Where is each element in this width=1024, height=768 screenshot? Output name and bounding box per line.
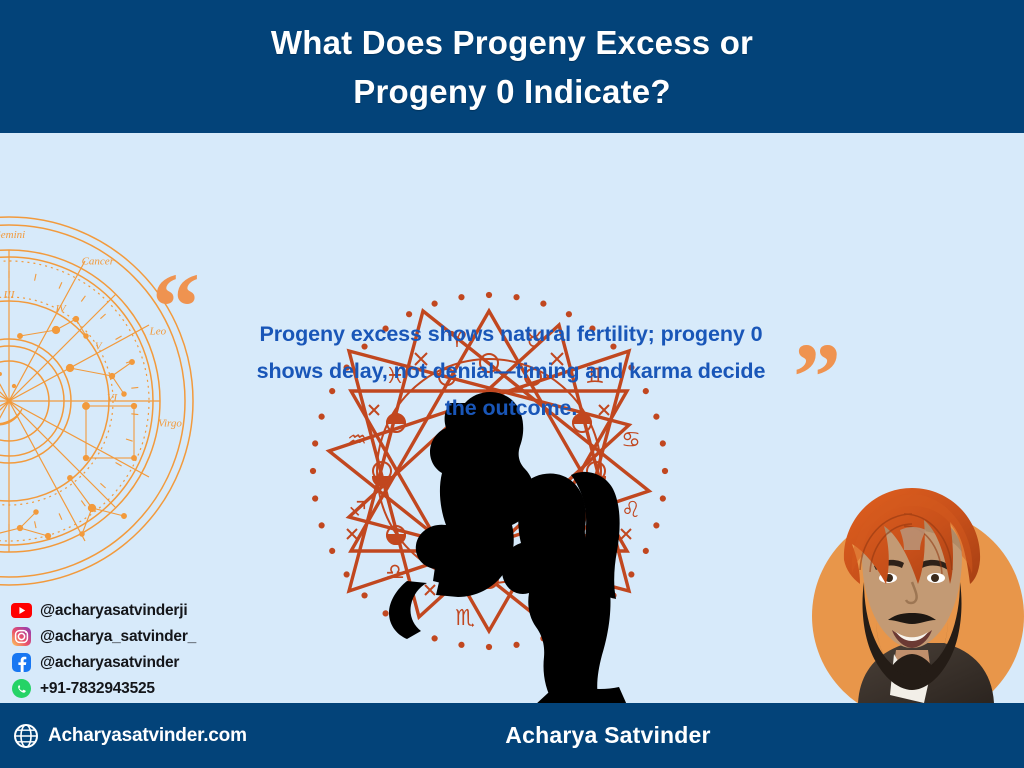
mother-child-silhouette — [389, 392, 627, 703]
body-area: Aries Taurus Gemini Cancer Leo Virgo ♈ ♉… — [0, 133, 1024, 703]
page-title-line1: What Does Progeny Excess or — [271, 18, 753, 67]
wheel-house-4: IV — [54, 303, 67, 315]
footer-website-text: Acharyasatvinder.com — [48, 725, 247, 747]
social-handle-instagram: @acharya_satvinder_ — [40, 628, 196, 646]
wheel-house-6: VI — [107, 392, 119, 404]
social-row-instagram[interactable]: @acharya_satvinder_ — [10, 625, 270, 648]
social-handle-facebook: @acharyasatvinder — [40, 654, 179, 672]
social-row-facebook[interactable]: @acharyasatvinder — [10, 651, 270, 674]
mandala-glyph-aquarius: ♒ — [347, 428, 367, 453]
mandala-glyph-leo: ♌ — [621, 498, 641, 523]
mandala-glyph-scorpio: ♏ — [455, 606, 475, 631]
quote-line-2: shows delay, not denial—timing and karma… — [228, 353, 794, 390]
social-handle-youtube: @acharyasatvinderji — [40, 602, 187, 620]
quote-line-3: the outcome. — [228, 390, 794, 427]
header-banner: What Does Progeny Excess or Progeny 0 In… — [0, 0, 1024, 133]
social-row-youtube[interactable]: @acharyasatvinderji — [10, 599, 270, 622]
social-handle-whatsapp: +91-7832943525 — [40, 680, 155, 698]
social-row-whatsapp[interactable]: +91-7832943525 — [10, 677, 270, 700]
footer-website-link[interactable]: Acharyasatvinder.com — [14, 724, 247, 748]
quote-close-mark: ” — [793, 346, 883, 408]
wheel-sign-virgo: Virgo — [158, 417, 182, 429]
whatsapp-icon[interactable] — [10, 679, 32, 698]
youtube-icon[interactable] — [10, 601, 32, 620]
mandala-glyph-libra: ♎ — [385, 560, 405, 585]
social-links-list: @acharyasatvinderji @acharya_satvinder_ — [10, 599, 270, 703]
quote-line-1: Progeny excess shows natural fertility; … — [228, 316, 794, 353]
footer-bar: Acharyasatvinder.com — [0, 703, 1024, 768]
mandala-glyph-cancer: ♋ — [621, 428, 641, 453]
page-title-line2: Progeny 0 Indicate? — [353, 67, 670, 116]
facebook-icon[interactable] — [10, 653, 32, 672]
wheel-house-3: III — [3, 289, 16, 301]
instagram-icon[interactable] — [10, 627, 32, 646]
quote-text: Progeny excess shows natural fertility; … — [228, 316, 794, 427]
wheel-sign-gemini: Gemini — [0, 229, 25, 241]
avatar — [800, 478, 1024, 703]
wheel-sign-cancer: Cancer — [82, 255, 115, 267]
globe-icon — [14, 724, 38, 748]
poster-root: What Does Progeny Excess or Progeny 0 In… — [0, 0, 1024, 768]
